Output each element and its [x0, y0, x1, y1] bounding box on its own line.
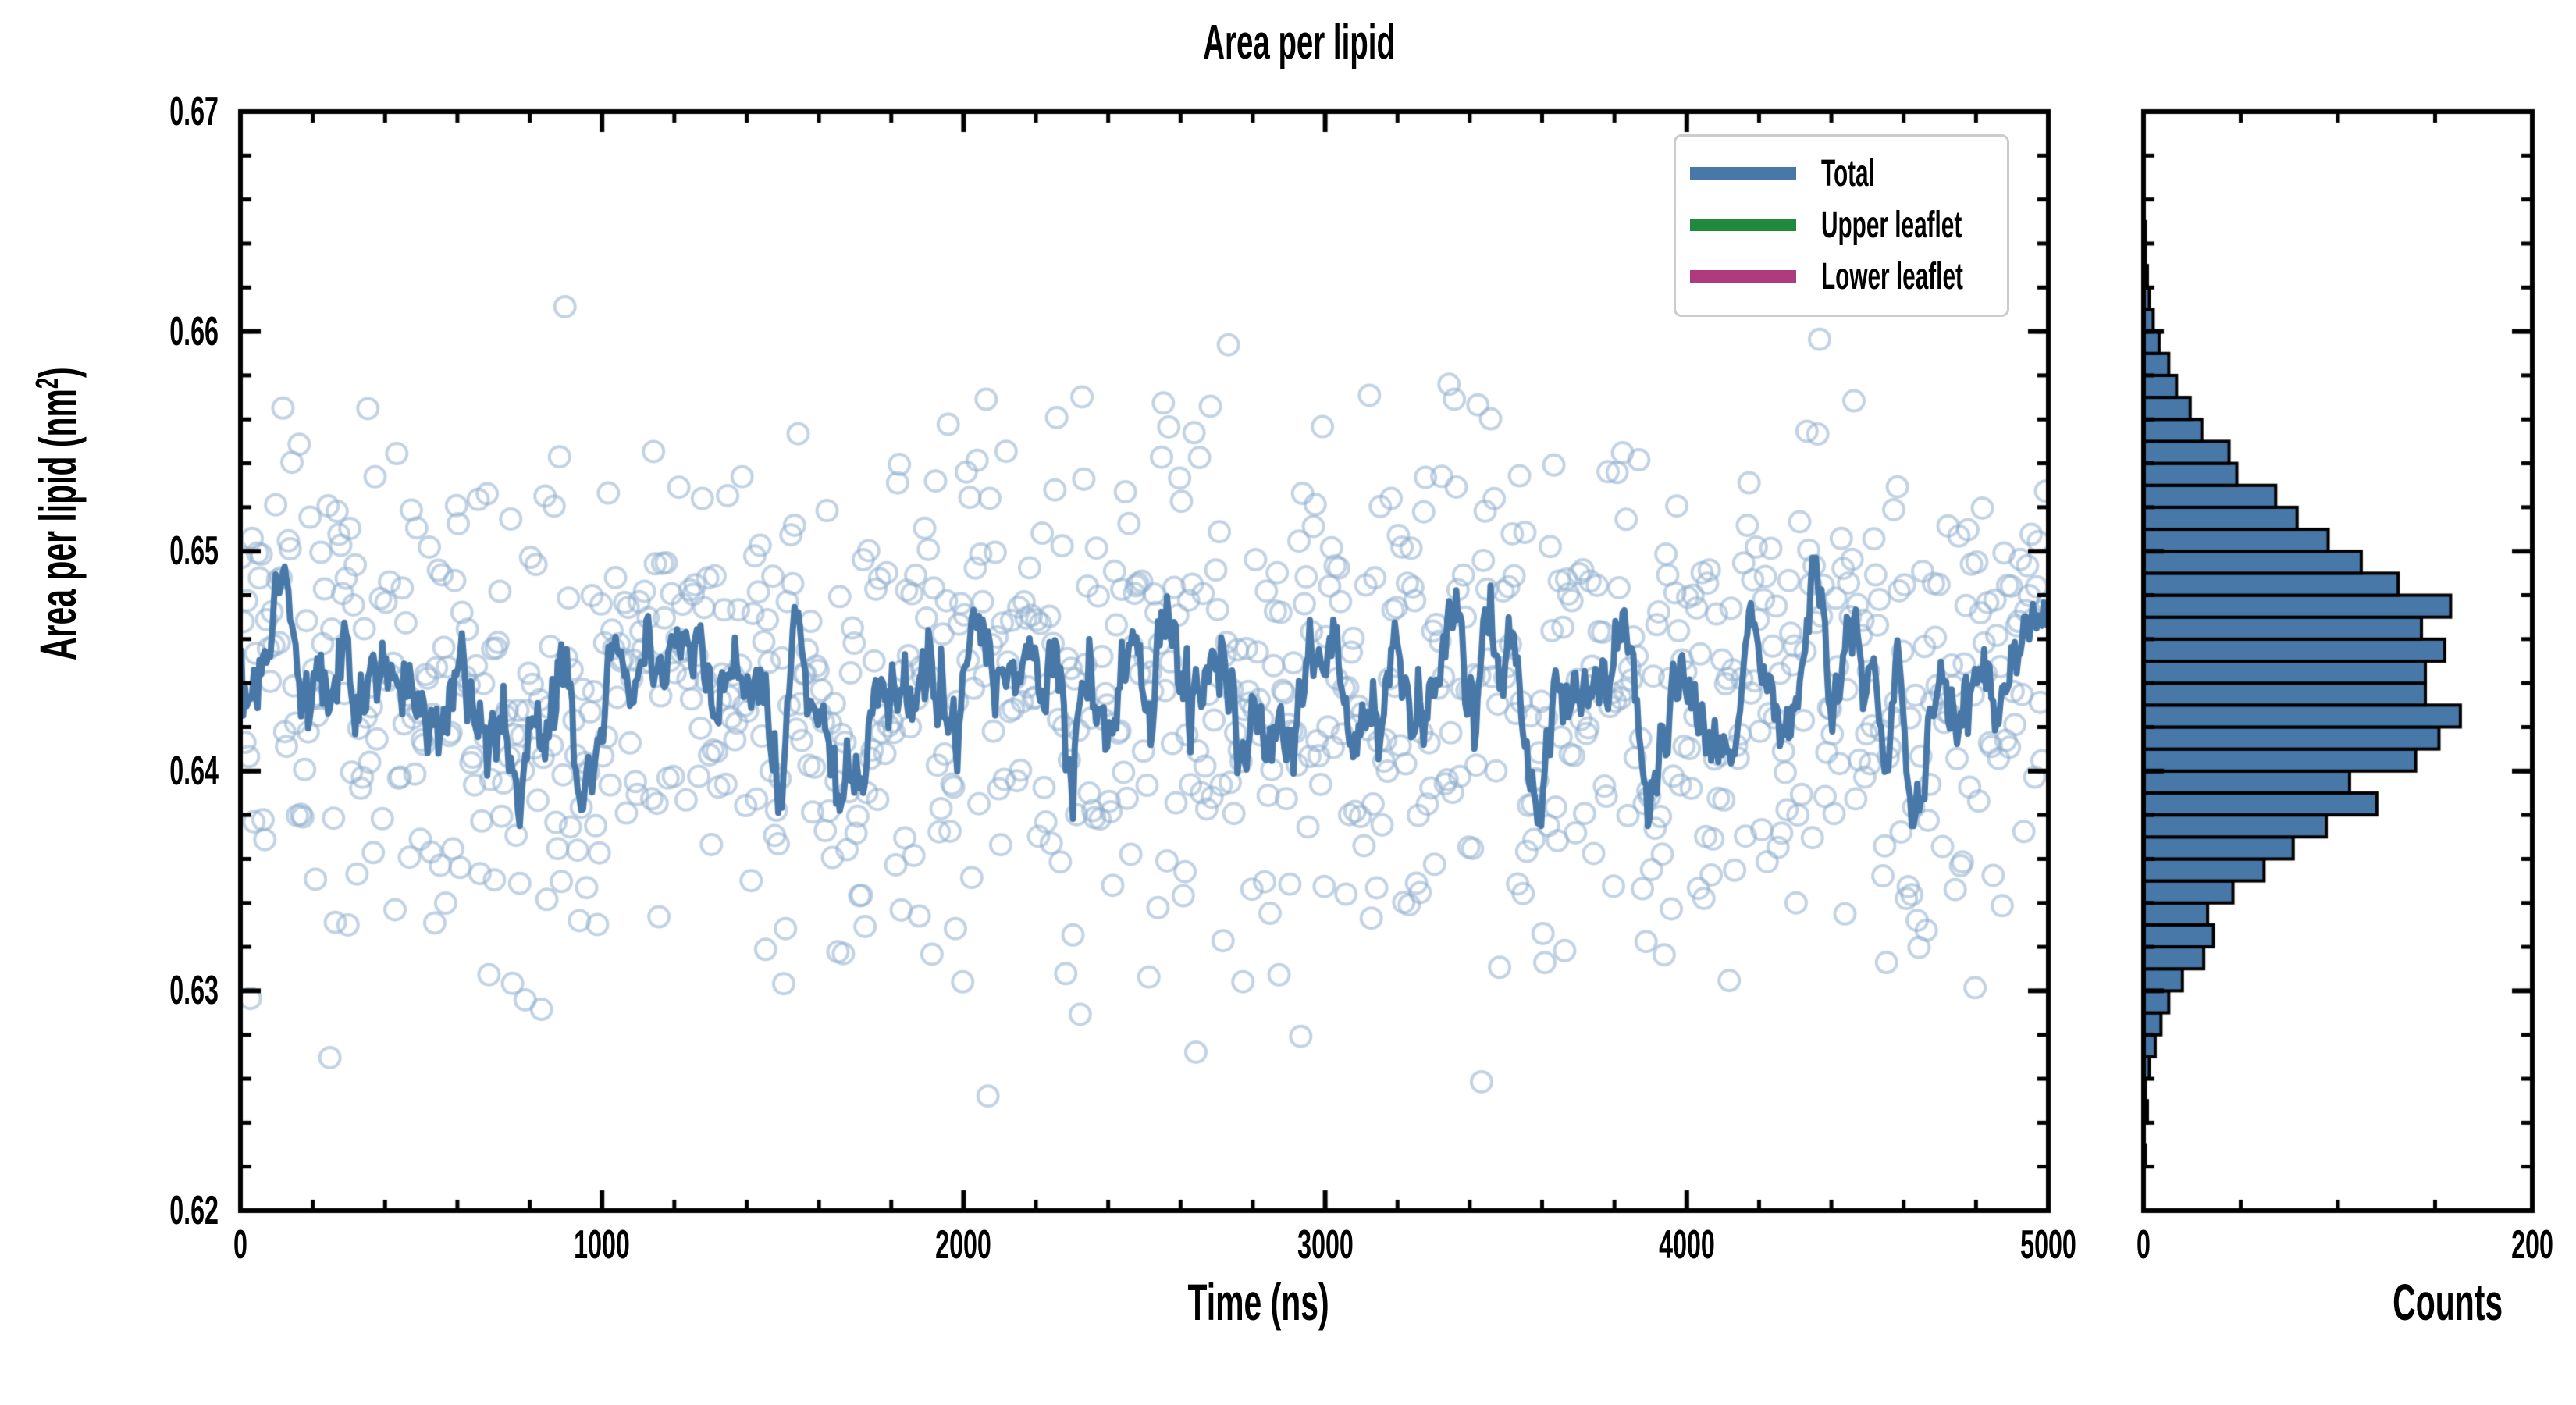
figure-root: Area per lipid Time (ns) Area per lipid … — [0, 0, 2576, 1405]
legend-swatch-total — [1690, 167, 1796, 180]
x-tick-2000: 2000 — [866, 1225, 1060, 1265]
y-tick-0_64: 0.64 — [83, 751, 219, 791]
legend[interactable]: Total Upper leaflet Lower leaflet — [1674, 134, 2009, 317]
legend-item-upper-leaflet[interactable]: Upper leaflet — [1690, 199, 1993, 251]
legend-item-lower-leaflet[interactable]: Lower leaflet — [1690, 251, 1993, 302]
histogram-x-axis-label: Counts — [2393, 1276, 2503, 1328]
hist-x-tick-200: 200 — [2435, 1225, 2576, 1265]
legend-swatch-lower-leaflet — [1690, 270, 1796, 283]
y-tick-0_63: 0.63 — [83, 970, 219, 1011]
legend-item-total[interactable]: Total — [1690, 148, 1993, 199]
legend-label-lower-leaflet: Lower leaflet — [1821, 255, 1963, 298]
x-tick-1000: 1000 — [505, 1225, 699, 1265]
hist-x-tick-0: 0 — [2047, 1225, 2240, 1265]
x-tick-0: 0 — [144, 1225, 337, 1265]
x-tick-3000: 3000 — [1229, 1225, 1422, 1265]
y-tick-0_65: 0.65 — [83, 531, 219, 571]
y-axis-label: Area per lipid (nm2) — [31, 367, 84, 660]
legend-swatch-upper-leaflet — [1690, 219, 1796, 231]
x-axis-label: Time (ns) — [1188, 1276, 1329, 1328]
plot-canvas[interactable] — [0, 0, 2576, 1405]
y-tick-0_66: 0.66 — [83, 311, 219, 352]
y-axis-label-exponent: 2 — [29, 378, 65, 389]
legend-label-total: Total — [1821, 152, 1875, 195]
page-title: Area per lipid — [1203, 19, 1395, 67]
x-tick-4000: 4000 — [1590, 1225, 1784, 1265]
legend-label-upper-leaflet: Upper leaflet — [1821, 204, 1962, 247]
y-tick-0_67: 0.67 — [83, 91, 219, 132]
